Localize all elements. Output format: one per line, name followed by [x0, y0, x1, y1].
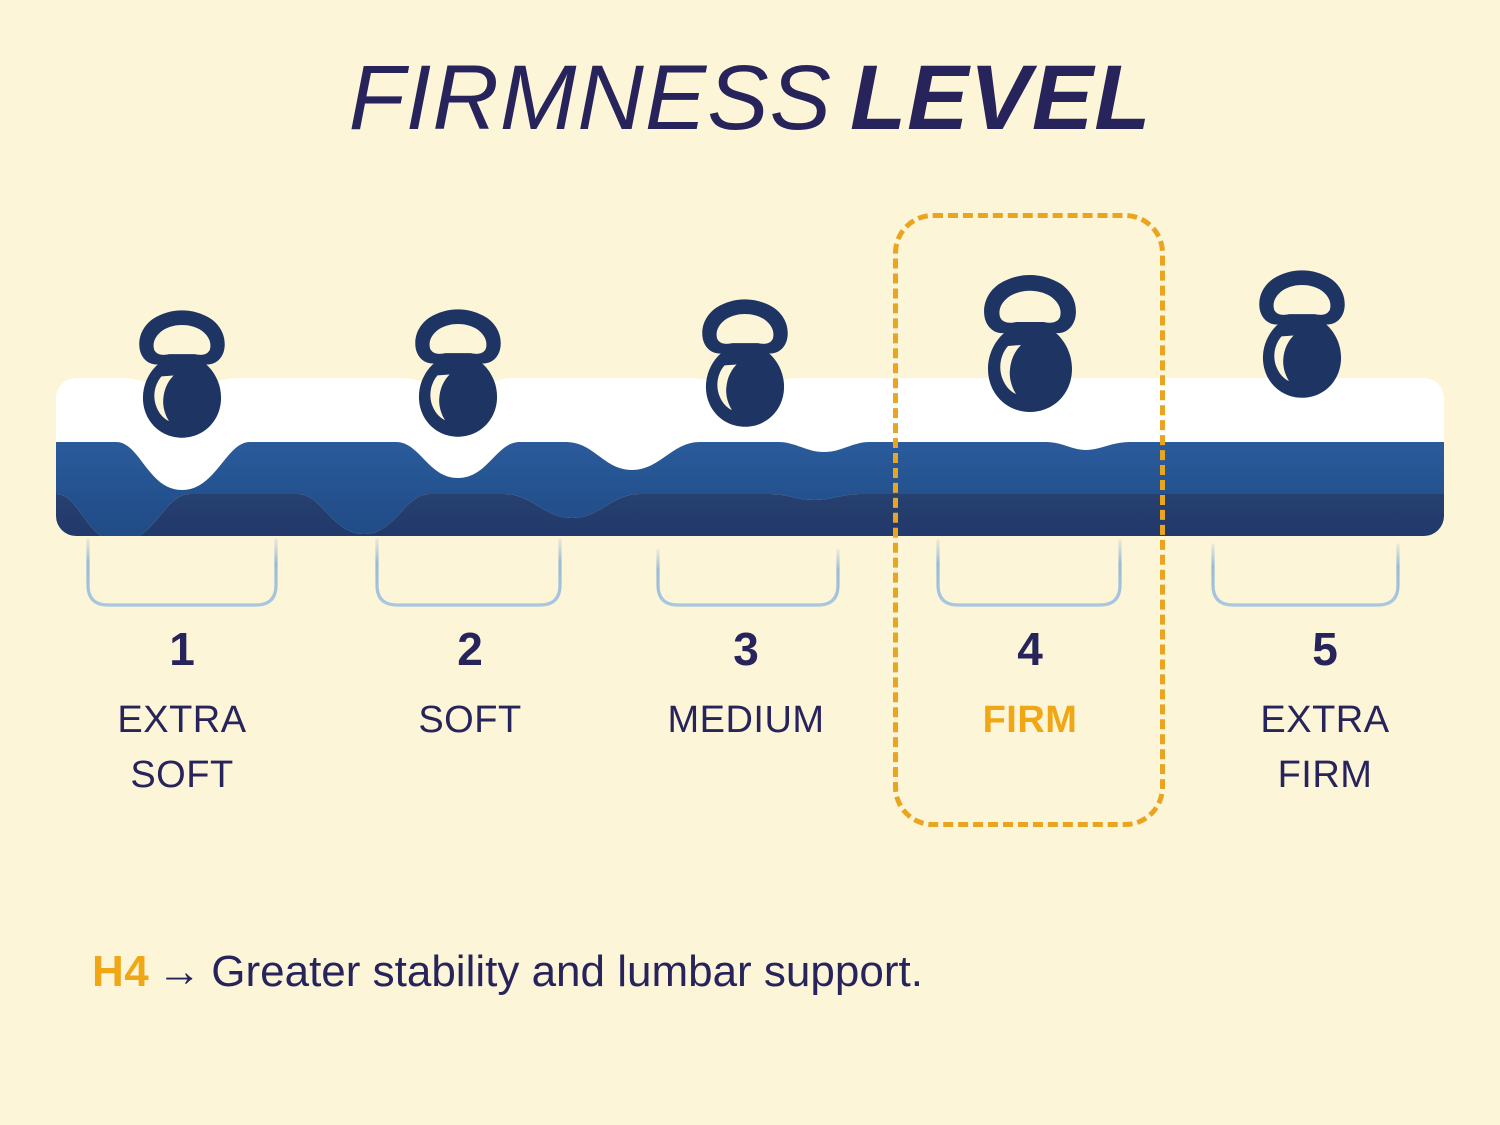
- level-name-line: MEDIUM: [626, 693, 866, 748]
- level-item-4[interactable]: 4 FIRM: [910, 625, 1150, 748]
- segment-bracket-icon: [1213, 545, 1398, 605]
- level-name-line: EXTRA: [62, 693, 302, 748]
- level-number: 5: [1205, 625, 1445, 673]
- level-item-2[interactable]: 2 SOFT: [350, 625, 590, 748]
- segment-bracket-icon: [377, 540, 560, 605]
- level-name-line: FIRM: [1205, 748, 1445, 803]
- kettlebell-icon: [415, 309, 500, 436]
- level-name-line: EXTRA: [1205, 693, 1445, 748]
- level-item-5[interactable]: 5 EXTRA FIRM: [1205, 625, 1445, 803]
- caption-text: Greater stability and lumbar support.: [211, 947, 923, 996]
- kettlebell-icon: [1259, 270, 1344, 397]
- kettlebell-icon: [139, 310, 224, 437]
- level-item-3[interactable]: 3 MEDIUM: [626, 625, 866, 748]
- level-number: 4: [910, 625, 1150, 673]
- infographic-canvas: FIRMNESSLEVEL: [0, 0, 1500, 1125]
- level-number: 1: [62, 625, 302, 673]
- arrow-icon: →: [157, 947, 201, 996]
- level-number: 3: [626, 625, 866, 673]
- segment-bracket-icon: [658, 551, 838, 605]
- level-number: 2: [350, 625, 590, 673]
- segment-bracket-icon: [88, 540, 276, 605]
- level-name-line: SOFT: [62, 748, 302, 803]
- segment-bracket-icon: [938, 541, 1120, 605]
- caption: H4→Greater stability and lumbar support.: [92, 948, 923, 996]
- kettlebell-icon: [702, 299, 787, 426]
- mattress-layer-base: [56, 494, 1444, 542]
- kettlebell-icon: [984, 275, 1076, 412]
- level-name-line: FIRM: [910, 693, 1150, 748]
- firmness-scale-labels: 1 EXTRA SOFT 2 SOFT 3 MEDIUM 4 FIRM 5 EX…: [0, 625, 1500, 855]
- caption-badge: H4: [92, 947, 149, 996]
- level-name-line: SOFT: [350, 693, 590, 748]
- level-item-1[interactable]: 1 EXTRA SOFT: [62, 625, 302, 803]
